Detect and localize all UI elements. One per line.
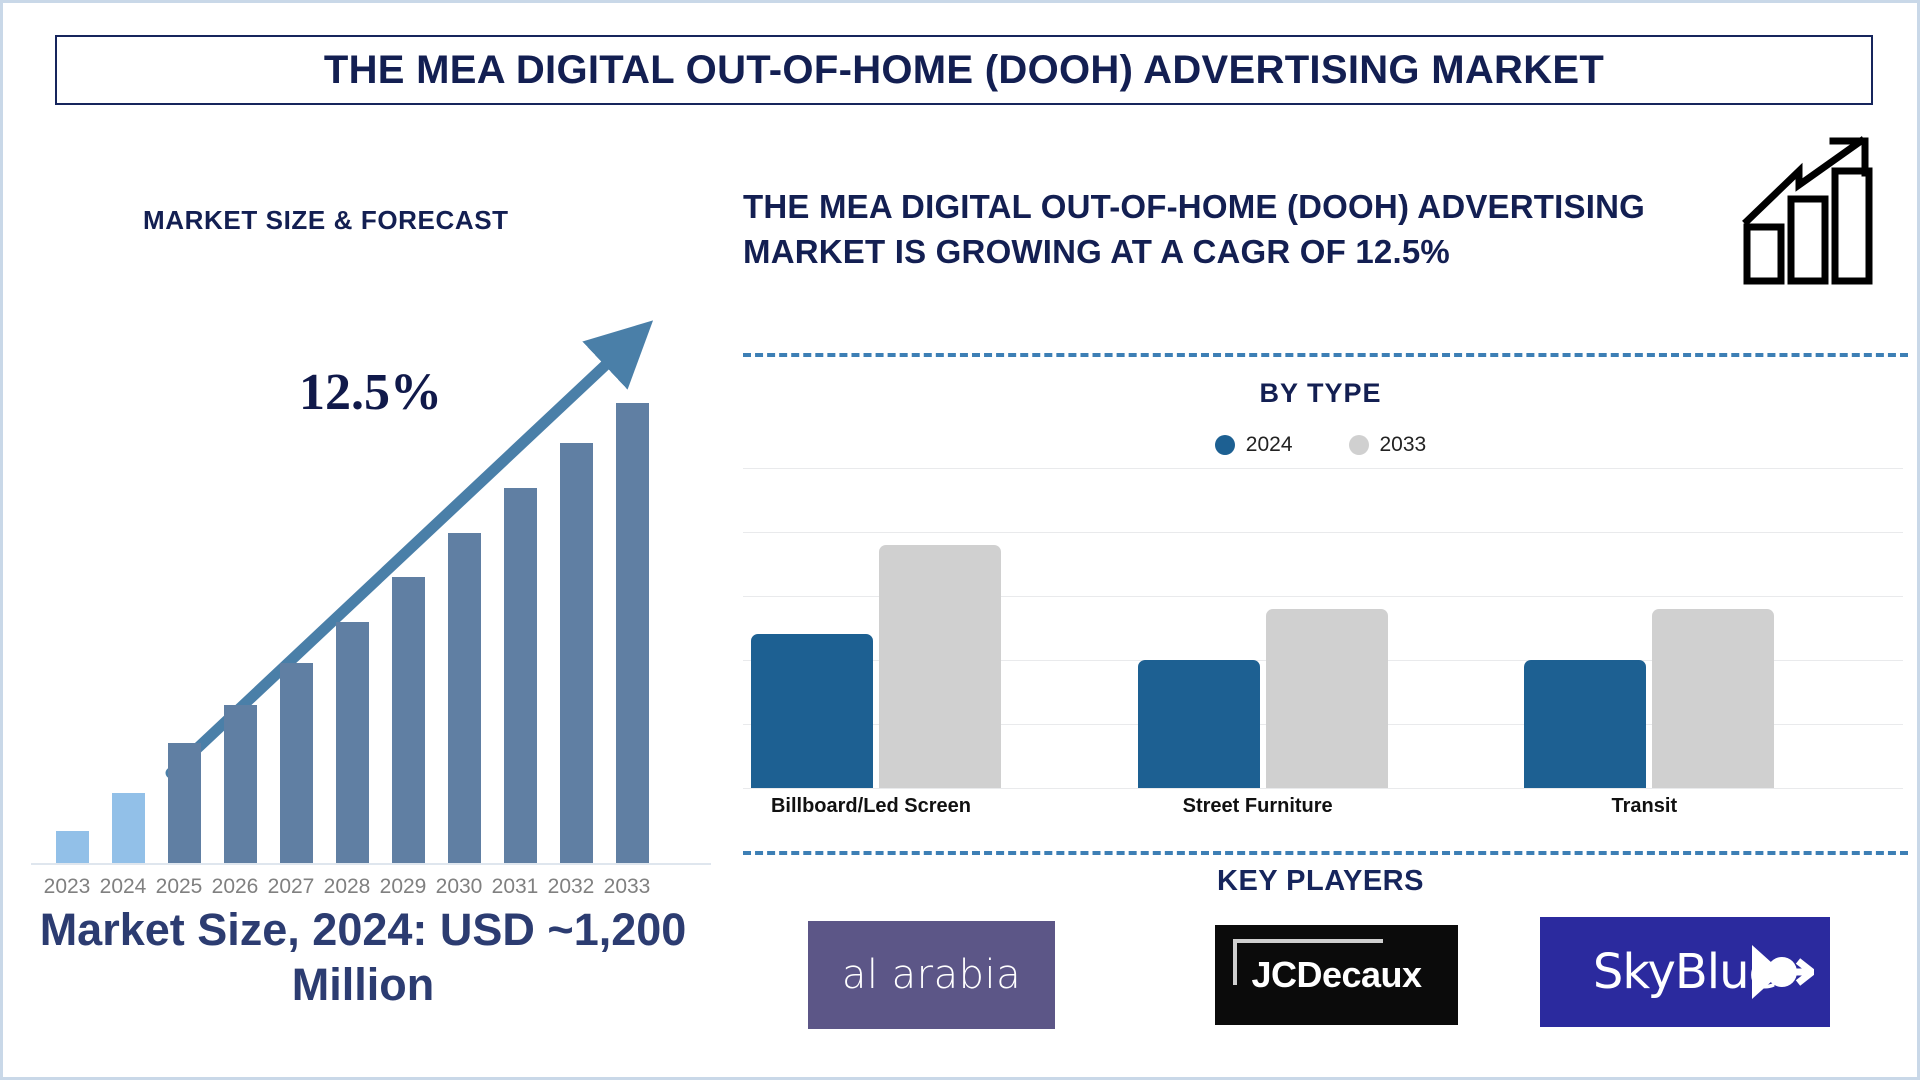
cagr-headline: THE MEA DIGITAL OUT-OF-HOME (DOOH) ADVER… — [743, 185, 1683, 275]
skyblue-arrow-icon — [1748, 943, 1814, 1001]
by-type-bars — [743, 468, 1903, 788]
forecast-year-label: 2029 — [375, 875, 431, 899]
divider-bottom — [743, 851, 1908, 855]
market-size-forecast-chart: 2023202420252026202720282029203020312032… — [31, 283, 711, 973]
gridline — [743, 788, 1903, 789]
by-type-chart: Billboard/Led ScreenStreet FurnitureTran… — [743, 468, 1903, 838]
legend-item[interactable]: 2024 — [1215, 433, 1293, 457]
forecast-year-label: 2032 — [543, 875, 599, 899]
page-title: THE MEA DIGITAL OUT-OF-HOME (DOOH) ADVER… — [324, 48, 1604, 93]
by-type-bar — [879, 545, 1001, 788]
by-type-legend: 20242033 — [733, 433, 1908, 457]
page-title-box: THE MEA DIGITAL OUT-OF-HOME (DOOH) ADVER… — [55, 35, 1873, 105]
forecast-year-label: 2026 — [207, 875, 263, 899]
logo-jcdecaux[interactable]: JCDecaux — [1215, 925, 1458, 1025]
growth-chart-icon — [1741, 135, 1881, 285]
forecast-bar — [392, 577, 425, 863]
forecast-bar — [336, 622, 369, 863]
divider-top — [743, 353, 1908, 357]
legend-swatch-icon — [1349, 435, 1369, 455]
forecast-year-label: 2024 — [95, 875, 151, 899]
by-type-category-label: Street Furniture — [1148, 794, 1368, 820]
legend-label: 2033 — [1380, 433, 1427, 457]
forecast-year-label: 2023 — [39, 875, 95, 899]
legend-item[interactable]: 2033 — [1349, 433, 1427, 457]
market-size-forecast-panel: MARKET SIZE & FORECAST 12.5% 20232024202… — [3, 113, 713, 1083]
market-size-callout: Market Size, 2024: USD ~1,200 Million — [23, 903, 703, 1013]
by-type-bar — [751, 634, 873, 788]
by-type-bar — [1652, 609, 1774, 788]
forecast-bar — [56, 831, 89, 863]
forecast-bar — [560, 443, 593, 863]
key-players-title: KEY PLAYERS — [733, 865, 1908, 898]
key-players-logos: al arabia JCDecaux SkyBlue — [733, 913, 1908, 1038]
by-type-bar — [1138, 660, 1260, 788]
forecast-bar — [224, 705, 257, 863]
forecast-year-label: 2028 — [319, 875, 375, 899]
logo-al-arabia[interactable]: al arabia — [808, 921, 1055, 1029]
forecast-bar — [280, 663, 313, 863]
forecast-year-label: 2031 — [487, 875, 543, 899]
by-type-category-label: Transit — [1534, 794, 1754, 820]
legend-label: 2024 — [1246, 433, 1293, 457]
forecast-year-label: 2025 — [151, 875, 207, 899]
jcdecaux-bracket-icon — [1233, 939, 1383, 985]
forecast-bar — [616, 403, 649, 863]
legend-swatch-icon — [1215, 435, 1235, 455]
logo-al-arabia-label: al arabia — [842, 952, 1021, 998]
forecast-bars — [31, 283, 711, 863]
insights-panel: THE MEA DIGITAL OUT-OF-HOME (DOOH) ADVER… — [733, 113, 1920, 1083]
forecast-axis-line — [31, 863, 711, 865]
forecast-year-label: 2027 — [263, 875, 319, 899]
by-type-bar — [1524, 660, 1646, 788]
growth-arrow — [31, 283, 711, 863]
by-type-category-label: Billboard/Led Screen — [761, 794, 981, 820]
forecast-year-label: 2030 — [431, 875, 487, 899]
market-size-forecast-heading: MARKET SIZE & FORECAST — [143, 205, 509, 236]
forecast-year-label: 2033 — [599, 875, 655, 899]
forecast-bar — [168, 743, 201, 863]
forecast-bar — [504, 488, 537, 863]
forecast-bar — [112, 793, 145, 863]
by-type-bar — [1266, 609, 1388, 788]
forecast-bar — [448, 533, 481, 863]
logo-skyblue[interactable]: SkyBlue — [1540, 917, 1830, 1027]
infographic-page: THE MEA DIGITAL OUT-OF-HOME (DOOH) ADVER… — [0, 0, 1920, 1080]
by-type-title: BY TYPE — [733, 378, 1908, 409]
